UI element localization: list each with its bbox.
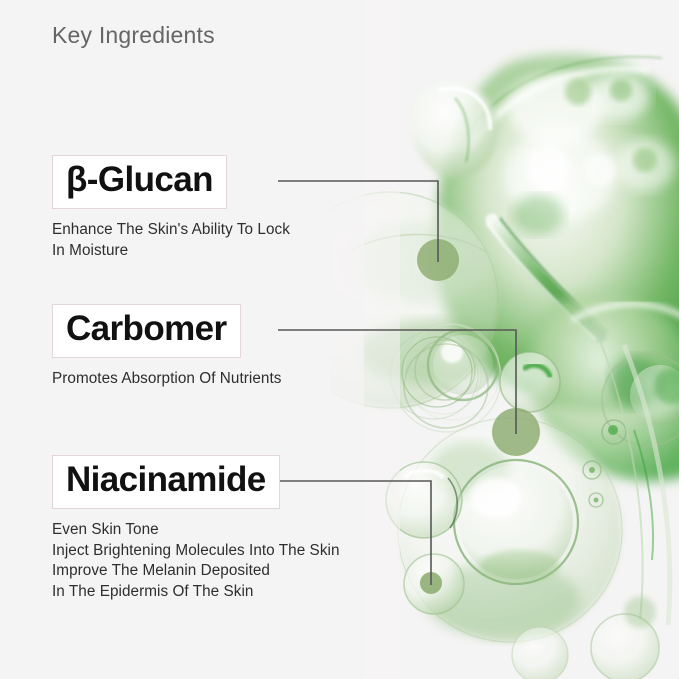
ingredient-description-niacinamide: Even Skin Tone Inject Brightening Molecu… bbox=[52, 520, 340, 603]
description-line: Inject Brightening Molecules Into The Sk… bbox=[52, 541, 340, 562]
ingredient-description-carbomer: Promotes Absorption Of Nutrients bbox=[52, 369, 281, 390]
ingredient-block-niacinamide: Niacinamide Even Skin Tone Inject Bright… bbox=[52, 455, 340, 603]
ingredients-infographic: Key Ingredients β-Glucan Enhance The Ski… bbox=[0, 0, 679, 679]
description-line: In The Epidermis Of The Skin bbox=[52, 582, 340, 603]
ingredient-name-carbomer: Carbomer bbox=[66, 311, 227, 348]
description-line: Improve The Melanin Deposited bbox=[52, 561, 340, 582]
ingredient-name-niacinamide: Niacinamide bbox=[66, 462, 266, 499]
ingredient-name-beta-glucan: β-Glucan bbox=[66, 162, 213, 199]
description-line: Even Skin Tone bbox=[52, 520, 340, 541]
ingredient-block-carbomer: Carbomer Promotes Absorption Of Nutrient… bbox=[52, 304, 281, 390]
description-line: In Moisture bbox=[52, 241, 290, 262]
ingredient-name-box-carbomer: Carbomer bbox=[52, 304, 241, 358]
description-line: Enhance The Skin's Ability To Lock bbox=[52, 220, 290, 241]
ingredient-block-beta-glucan: β-Glucan Enhance The Skin's Ability To L… bbox=[52, 155, 290, 261]
ingredient-name-box-niacinamide: Niacinamide bbox=[52, 455, 280, 509]
ingredient-description-beta-glucan: Enhance The Skin's Ability To Lock In Mo… bbox=[52, 220, 290, 262]
page-title: Key Ingredients bbox=[52, 22, 215, 49]
ingredient-name-box-beta-glucan: β-Glucan bbox=[52, 155, 227, 209]
description-line: Promotes Absorption Of Nutrients bbox=[52, 369, 281, 390]
